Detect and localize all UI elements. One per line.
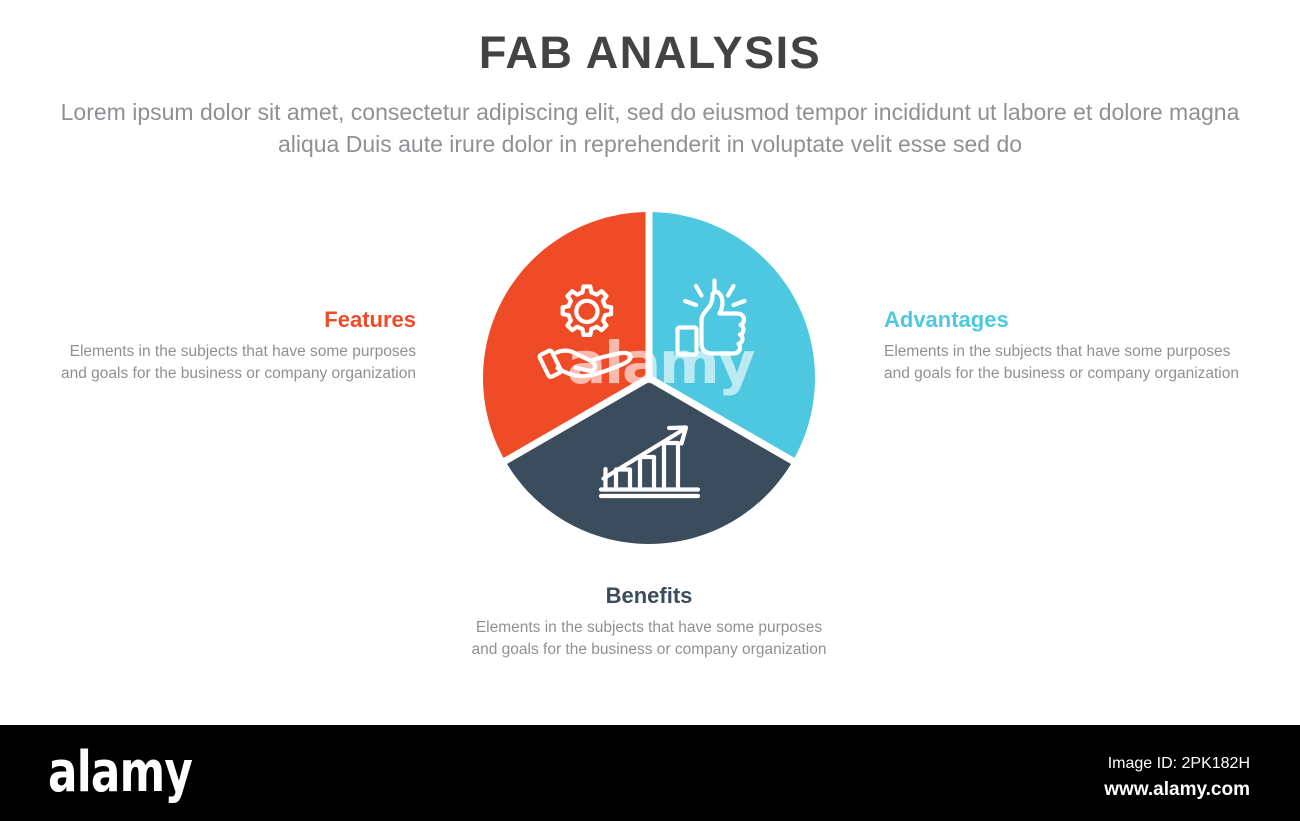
features-description: Elements in the subjects that have some … [60, 341, 416, 385]
alamy-logo: alamy [48, 745, 192, 801]
features-label: Features [60, 307, 416, 333]
segment-block-benefits: Benefits Elements in the subjects that h… [469, 583, 829, 661]
page-title: FAB ANALYSIS [0, 28, 1300, 78]
segment-block-features: Features Elements in the subjects that h… [60, 307, 416, 385]
benefits-label: Benefits [469, 583, 829, 609]
alamy-website-link[interactable]: www.alamy.com [830, 777, 1250, 803]
page-subtitle: Lorem ipsum dolor sit amet, consectetur … [60, 97, 1240, 160]
alamy-footer-bar: alamy Image ID: 2PK182H www.alamy.com [0, 725, 1300, 821]
advantages-label: Advantages [884, 307, 1240, 333]
fab-pie-chart [479, 208, 819, 548]
footer-meta: Image ID: 2PK182H www.alamy.com [830, 753, 1250, 803]
advantages-description: Elements in the subjects that have some … [884, 341, 1240, 385]
image-id-text: Image ID: 2PK182H [830, 753, 1250, 775]
segment-block-advantages: Advantages Elements in the subjects that… [884, 307, 1240, 385]
benefits-description: Elements in the subjects that have some … [469, 617, 829, 661]
slide-canvas: FAB ANALYSIS Lorem ipsum dolor sit amet,… [0, 0, 1300, 725]
